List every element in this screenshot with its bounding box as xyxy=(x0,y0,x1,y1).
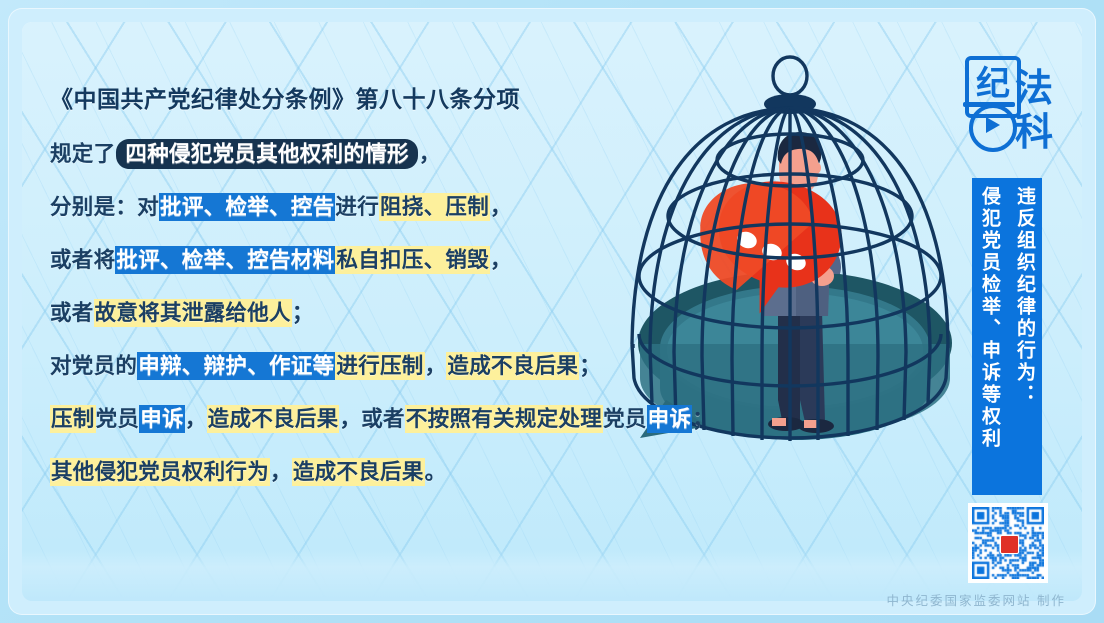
text-segment-blue: 申辩、辩护、作证等 xyxy=(137,352,335,380)
article-lines: 规定了四种侵犯党员其他权利的情形，分别是：对批评、检举、控告进行阻挠、压制，或者… xyxy=(50,128,740,499)
banner-column-right: 违反组织纪律的行为： xyxy=(1008,186,1041,495)
text-segment-blue: 批评、检举、控告 xyxy=(159,193,335,221)
article-line: 压制党员申诉，造成不良后果，或者不按照有关规定处理党员申诉； xyxy=(50,393,740,446)
text-segment-blue: 批评、检举、控告材料 xyxy=(115,246,335,274)
text-segment-plain: ， xyxy=(419,142,441,166)
text-segment-plain: 或者将 xyxy=(50,248,115,272)
footer-credit: 中央纪委国家监委网站 制作 xyxy=(887,590,1066,609)
text-segment-plain: 进行 xyxy=(335,195,379,219)
text-segment-plain: ，或者 xyxy=(339,407,404,431)
text-segment-plain: 对党员的 xyxy=(50,354,137,378)
text-segment-plain: 。 xyxy=(425,460,447,484)
text-segment-plain: ， xyxy=(270,460,292,484)
text-segment-plain: 党员 xyxy=(603,407,647,431)
brand-logo[interactable]: 纪 法 科 xyxy=(963,56,1059,166)
article-text-block: 《中国共产党纪律处分条例》第八十八条分项 规定了四种侵犯党员其他权利的情形，分别… xyxy=(50,80,740,499)
article-line: 其他侵犯党员权利行为，造成不良后果。 xyxy=(50,446,740,499)
text-segment-plain: ， xyxy=(490,195,512,219)
poster-canvas: 《中国共产党纪律处分条例》第八十八条分项 规定了四种侵犯党员其他权利的情形，分别… xyxy=(0,0,1104,623)
text-segment-plain: ； xyxy=(579,354,601,378)
text-segment-plain: ； xyxy=(292,301,314,325)
text-segment-yellow: 造成不良后果 xyxy=(207,405,340,433)
category-banner: 违反组织纪律的行为： 侵犯党员检举、申诉等权利 xyxy=(972,178,1042,495)
article-line: 分别是：对批评、检举、控告进行阻挠、压制， xyxy=(50,181,740,234)
qr-code[interactable] xyxy=(968,503,1048,583)
text-segment-plain: 规定了 xyxy=(50,142,115,166)
text-segment-yellow: 不按照有关规定处理 xyxy=(405,405,603,433)
banner-column-left: 侵犯党员检举、申诉等权利 xyxy=(973,186,1006,495)
article-line: 或者故意将其泄露给他人； xyxy=(50,287,740,340)
logo-char-ke: 科 xyxy=(1015,114,1053,152)
article-line: 或者将批评、检举、控告材料私自扣压、销毁， xyxy=(50,234,740,287)
text-segment-blue: 申诉 xyxy=(647,405,693,433)
text-segment-yellow: 其他侵犯党员权利行为 xyxy=(50,458,270,486)
article-line: 规定了四种侵犯党员其他权利的情形， xyxy=(50,128,740,181)
text-segment-plain: ， xyxy=(185,407,207,431)
red-seal-icon xyxy=(1000,535,1019,554)
text-segment-plain: 或者 xyxy=(50,301,94,325)
logo-char-fa: 法 xyxy=(1015,70,1053,108)
play-triangle-icon xyxy=(969,104,1017,152)
text-segment-yellow: 压制 xyxy=(50,405,96,433)
text-segment-yellow: 阻挠、压制 xyxy=(379,193,490,221)
text-segment-yellow: 进行压制 xyxy=(335,352,424,380)
text-segment-pill: 四种侵犯党员其他权利的情形 xyxy=(116,139,417,169)
text-segment-yellow: 故意将其泄露给他人 xyxy=(94,299,292,327)
text-segment-yellow: 造成不良后果 xyxy=(446,352,579,380)
text-segment-plain: 分别是：对 xyxy=(50,195,159,219)
text-segment-plain: 党员 xyxy=(96,407,140,431)
page-title: 《中国共产党纪律处分条例》第八十八条分项 xyxy=(50,80,740,114)
text-segment-yellow: 私自扣压、销毁 xyxy=(335,246,490,274)
text-segment-plain: ， xyxy=(425,354,447,378)
text-segment-plain: ， xyxy=(490,248,512,272)
text-segment-plain: ； xyxy=(692,407,714,431)
article-line: 对党员的申辩、辩护、作证等进行压制，造成不良后果； xyxy=(50,340,740,393)
text-segment-yellow: 造成不良后果 xyxy=(292,458,425,486)
text-segment-blue: 申诉 xyxy=(139,405,185,433)
